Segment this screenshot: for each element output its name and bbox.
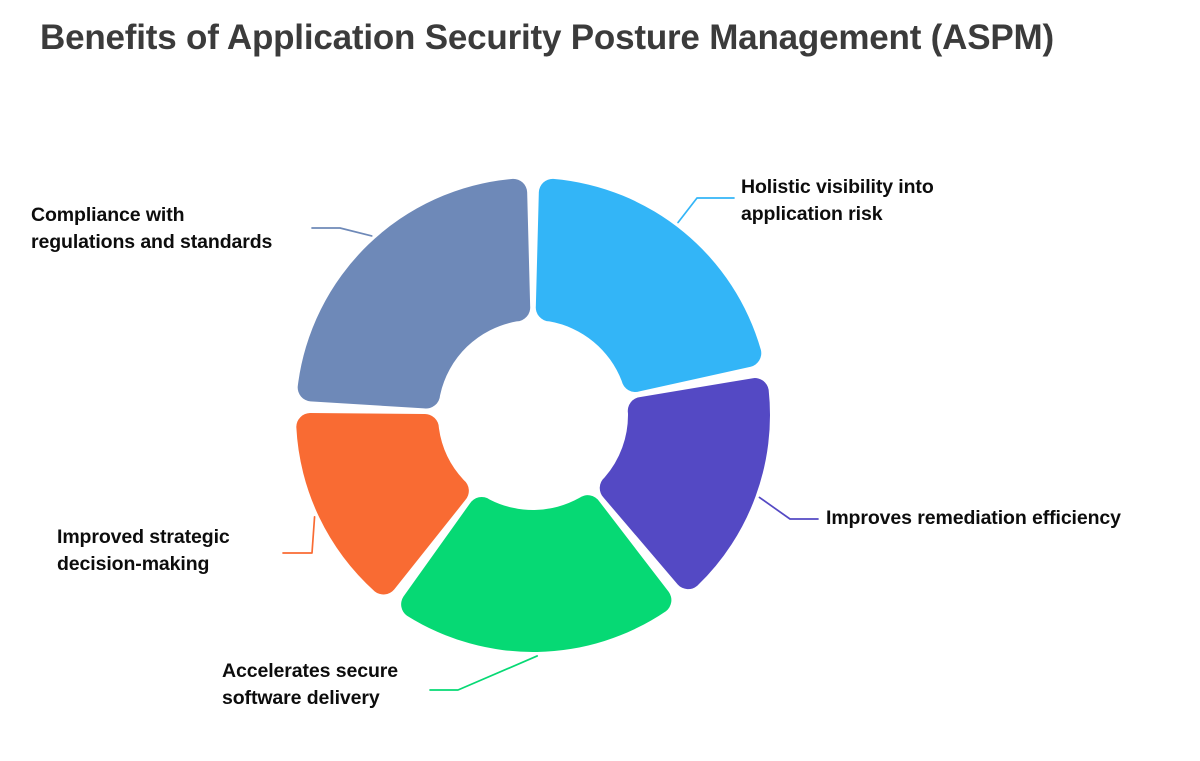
donut-segment[interactable]	[536, 179, 762, 392]
donut-segment-group	[296, 179, 770, 652]
donut-chart	[0, 0, 1200, 761]
infographic-page: Benefits of Application Security Posture…	[0, 0, 1200, 761]
callout-label-line-2: software delivery	[222, 685, 398, 712]
callout-label-line-1: Accelerates secure	[222, 658, 398, 685]
callout-connector-line	[430, 656, 537, 690]
callout-label-secure-software-delivery: Accelerates secure software delivery	[222, 658, 398, 712]
callout-label-line-1: Improves remediation efficiency	[826, 505, 1121, 532]
callout-label-line-1: Holistic visibility into	[741, 174, 934, 201]
donut-segment[interactable]	[298, 179, 531, 409]
callout-connector-line	[678, 198, 734, 223]
callout-connector-line	[759, 497, 818, 519]
callout-label-strategic-decision-making: Improved strategic decision-making	[57, 524, 230, 578]
callout-label-compliance-regulations: Compliance with regulations and standard…	[31, 202, 272, 256]
callout-label-line-1: Compliance with	[31, 202, 272, 229]
callout-label-holistic-visibility: Holistic visibility into application ris…	[741, 174, 934, 228]
callout-connector-line	[312, 228, 372, 236]
callout-connector-line	[283, 517, 315, 553]
callout-label-line-2: application risk	[741, 201, 934, 228]
callout-label-line-2: regulations and standards	[31, 229, 272, 256]
callout-label-line-1: Improved strategic	[57, 524, 230, 551]
callout-label-remediation-efficiency: Improves remediation efficiency	[826, 505, 1121, 532]
callout-label-line-2: decision-making	[57, 551, 230, 578]
